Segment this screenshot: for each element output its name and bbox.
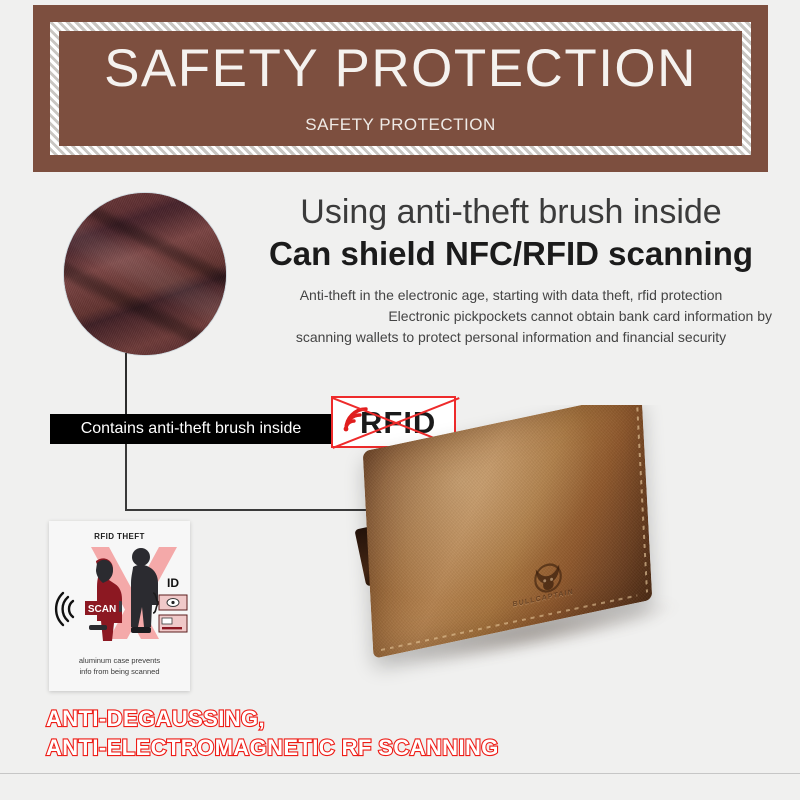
footer-claim-line-1: ANTI-DEGAUSSING, [46, 704, 499, 733]
rfid-theft-info-card: RFID THEFT [49, 521, 190, 691]
callout-label-text: Contains anti-theft brush inside [81, 420, 302, 438]
id-label: ID [167, 576, 179, 590]
header-banner: SAFETY PROTECTION SAFETY PROTECTION [33, 5, 768, 172]
product-feature-page: SAFETY PROTECTION SAFETY PROTECTION Usin… [0, 0, 800, 800]
fabric-swatch-circle [64, 193, 226, 355]
banner-content: SAFETY PROTECTION SAFETY PROTECTION [59, 31, 742, 146]
body-copy-line-2: Electronic pickpockets cannot obtain ban… [246, 306, 776, 327]
headline-line-2: Can shield NFC/RFID scanning [246, 234, 776, 274]
body-copy-line-3: scanning wallets to protect personal inf… [246, 327, 776, 348]
banner-title: SAFETY PROTECTION [104, 42, 697, 95]
leader-line-vertical-lower [125, 443, 127, 511]
theft-caption-line-1: aluminum case prevents [49, 656, 190, 667]
leader-line-vertical-upper [125, 353, 127, 415]
body-copy: Anti-theft in the electronic age, starti… [246, 285, 776, 348]
theft-card-illustration: SCAN ID [49, 539, 190, 649]
body-copy-line-1: Anti-theft in the electronic age, starti… [246, 285, 776, 306]
footer-claim-line-2: ANTI-ELECTROMAGNETIC RF SCANNING [46, 733, 499, 762]
bottom-divider [0, 773, 800, 774]
theft-caption-line-2: info from being scanned [49, 667, 190, 678]
wallet-product-photo: BULLCAPTAIN [330, 405, 800, 735]
headline-block: Using anti-theft brush inside Can shield… [246, 192, 776, 348]
headline-line-1: Using anti-theft brush inside [246, 192, 776, 232]
banner-hatched-frame: SAFETY PROTECTION SAFETY PROTECTION [50, 22, 751, 155]
svg-text:SCAN: SCAN [88, 604, 116, 615]
cash-icon [159, 595, 187, 610]
scan-waves-icon [56, 593, 73, 625]
bank-card-icon [159, 615, 187, 632]
theft-card-caption: aluminum case prevents info from being s… [49, 656, 190, 678]
banner-subtitle: SAFETY PROTECTION [305, 115, 496, 135]
callout-label-bar: Contains anti-theft brush inside [50, 414, 332, 444]
scan-badge: SCAN [85, 601, 119, 615]
footer-claim-block: ANTI-DEGAUSSING, ANTI-ELECTROMAGNETIC RF… [46, 704, 499, 762]
